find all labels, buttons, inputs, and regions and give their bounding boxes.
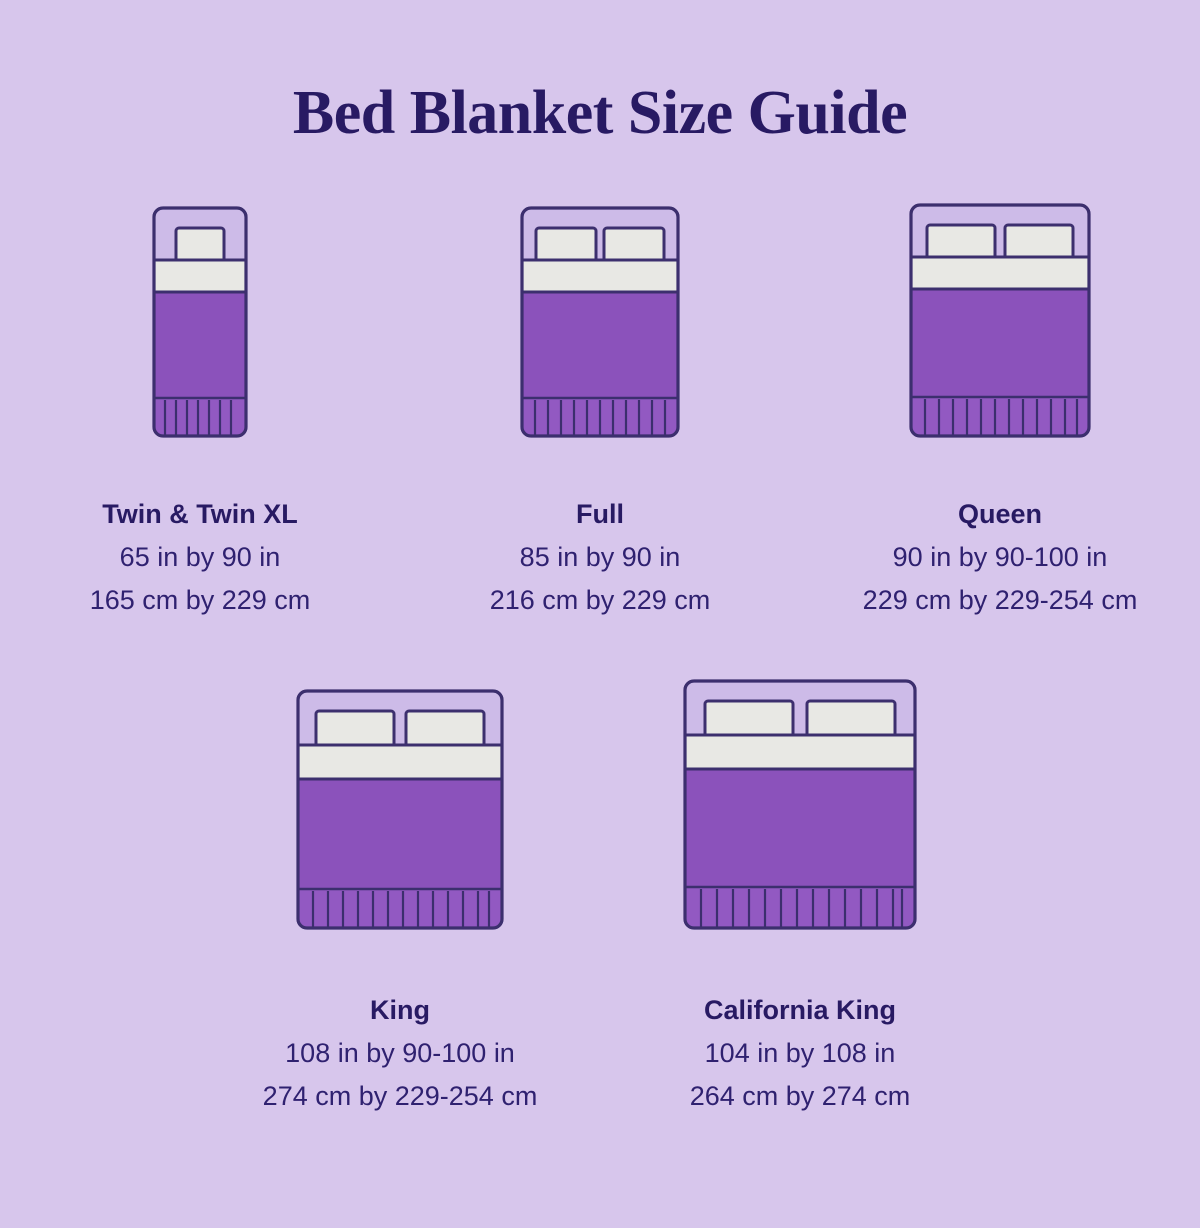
bed-queen-icon — [905, 199, 1095, 442]
size-inches: 108 in by 90-100 in — [263, 1032, 538, 1075]
size-label: California King — [690, 990, 911, 1032]
size-centimeters: 165 cm by 229 cm — [90, 579, 311, 622]
bed-twin-icon — [148, 202, 252, 442]
size-inches: 65 in by 90 in — [90, 536, 311, 579]
bed-full-icon — [516, 202, 684, 442]
size-inches: 104 in by 108 in — [690, 1032, 911, 1075]
size-centimeters: 264 cm by 274 cm — [690, 1075, 911, 1118]
bed-size-card-full: Full 85 in by 90 in 216 cm by 229 cm — [400, 192, 800, 622]
bed-size-card-queen: Queen 90 in by 90-100 in 229 cm by 229-2… — [800, 192, 1200, 622]
size-label: Full — [490, 494, 711, 536]
bed-size-card-california-king: California King 104 in by 108 in 264 cm … — [600, 674, 1000, 1118]
size-inches: 85 in by 90 in — [490, 536, 711, 579]
bed-size-caption-king: King 108 in by 90-100 in 274 cm by 229-2… — [263, 990, 538, 1118]
size-label: King — [263, 990, 538, 1032]
size-label: Twin & Twin XL — [90, 494, 311, 536]
size-centimeters: 229 cm by 229-254 cm — [863, 579, 1138, 622]
size-centimeters: 216 cm by 229 cm — [490, 579, 711, 622]
infographic-page: Bed Blanket Size Guide — [0, 0, 1200, 1228]
size-centimeters: 274 cm by 229-254 cm — [263, 1075, 538, 1118]
bed-size-caption-full: Full 85 in by 90 in 216 cm by 229 cm — [490, 494, 711, 622]
size-label: Queen — [863, 494, 1138, 536]
page-title: Bed Blanket Size Guide — [0, 0, 1200, 144]
bed-king-icon — [292, 685, 508, 934]
bed-size-card-king: King 108 in by 90-100 in 274 cm by 229-2… — [200, 674, 600, 1118]
bed-size-caption-twin: Twin & Twin XL 65 in by 90 in 165 cm by … — [90, 494, 311, 622]
bed-illustration-king — [292, 674, 508, 934]
size-inches: 90 in by 90-100 in — [863, 536, 1138, 579]
bed-california-king-icon — [679, 675, 921, 934]
bed-size-row-top: Twin & Twin XL 65 in by 90 in 165 cm by … — [0, 192, 1200, 622]
bed-illustration-queen — [905, 192, 1095, 442]
bed-illustration-california-king — [679, 674, 921, 934]
bed-size-caption-queen: Queen 90 in by 90-100 in 229 cm by 229-2… — [863, 494, 1138, 622]
bed-illustration-full — [516, 192, 684, 442]
bed-size-card-twin: Twin & Twin XL 65 in by 90 in 165 cm by … — [0, 192, 400, 622]
bed-size-row-bottom: King 108 in by 90-100 in 274 cm by 229-2… — [0, 674, 1200, 1118]
bed-size-caption-california-king: California King 104 in by 108 in 264 cm … — [690, 990, 911, 1118]
bed-illustration-twin — [148, 192, 252, 442]
